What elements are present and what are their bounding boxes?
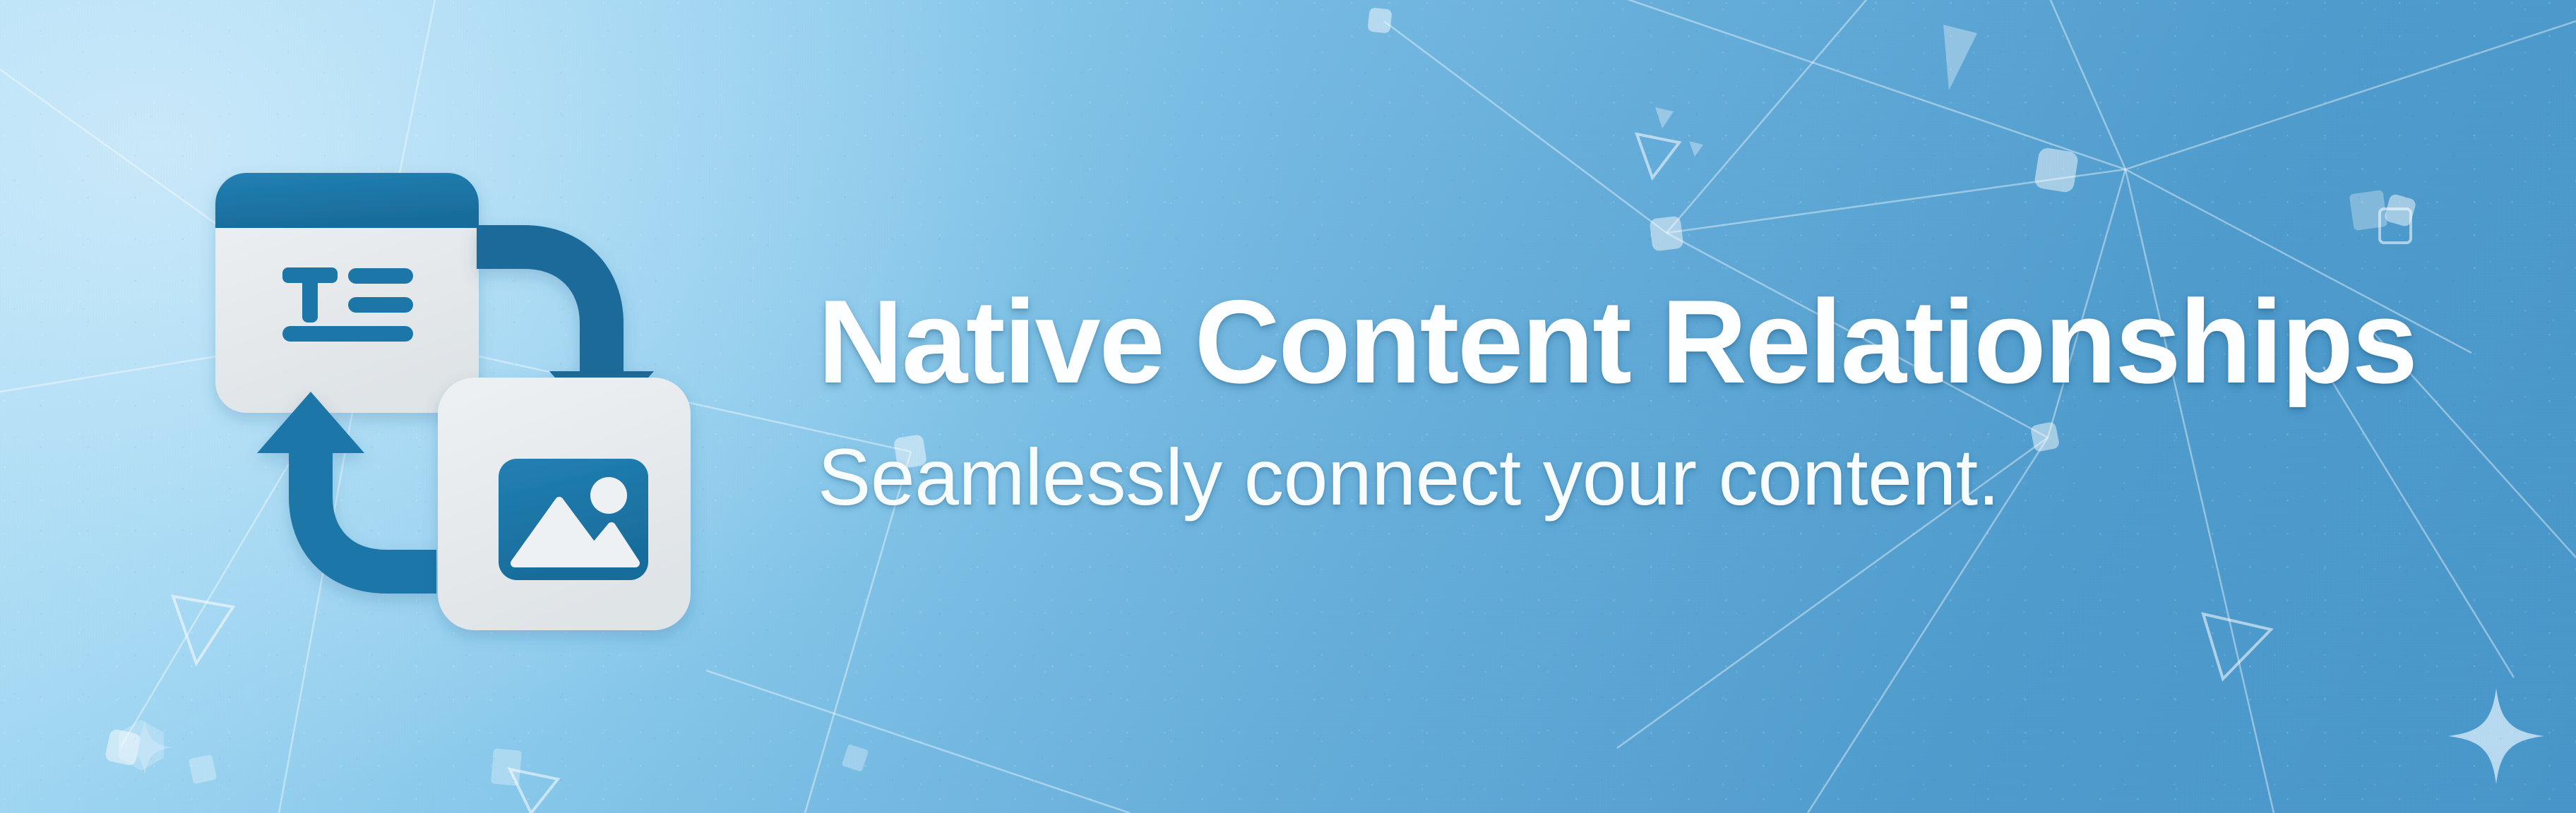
hero-banner: Native Content Relationships Seamlessly … xyxy=(0,0,2576,813)
picture-sun xyxy=(590,477,627,514)
picture-icon xyxy=(499,459,648,580)
decorative-hexagon xyxy=(119,720,164,771)
banner-text-block: Native Content Relationships Seamlessly … xyxy=(818,282,2477,517)
sync-arrow-down-stroke xyxy=(477,247,602,374)
content-sync-illustration xyxy=(198,148,734,685)
document-header-bar xyxy=(215,173,479,228)
sparkle-icon xyxy=(117,688,2544,784)
text-document-card xyxy=(215,173,479,413)
page-title: Native Content Relationships xyxy=(818,282,2477,401)
decorative-filled-triangles xyxy=(1655,25,1977,157)
page-subtitle: Seamlessly connect your content. xyxy=(818,401,2477,517)
sync-arrow-up-stroke xyxy=(311,450,436,572)
image-document-card xyxy=(438,378,691,630)
